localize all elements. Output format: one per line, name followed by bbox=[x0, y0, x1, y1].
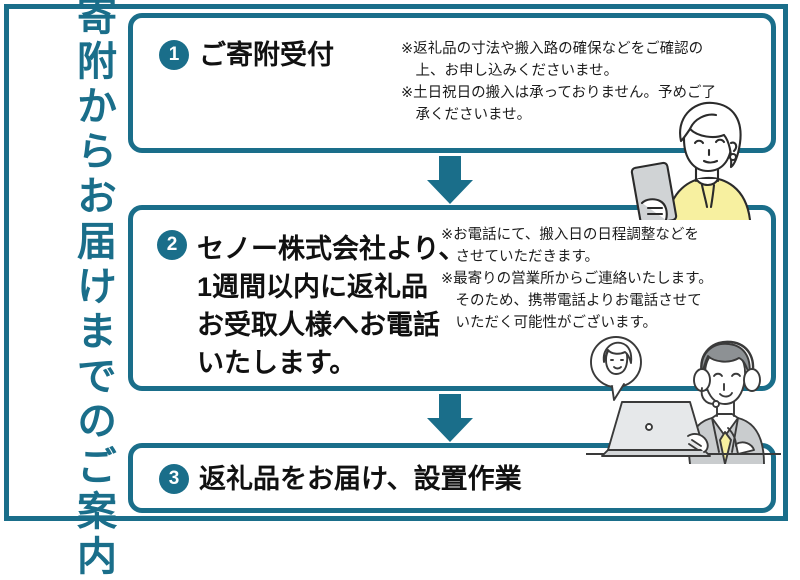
step-2-heading-group: 2 セノー株式会社より、 1週間以内に返礼品 お受取人様へお電話 いたします。 bbox=[157, 230, 465, 382]
vertical-title: ご寄附からお届けまでのご案内 bbox=[18, 12, 114, 512]
step-1-heading-group: 1 ご寄附受付 bbox=[159, 40, 334, 70]
arrow-tip bbox=[427, 180, 473, 204]
arrow-stem bbox=[439, 156, 461, 182]
arrow-tip bbox=[427, 418, 473, 442]
arrow-stem bbox=[439, 394, 461, 420]
infographic-root: ご寄附からお届けまでのご案内 1 ご寄附受付 ※返礼品の寸法や搬入路の確保などを… bbox=[0, 0, 800, 533]
step-3-heading: 返礼品をお届け、設置作業 bbox=[199, 464, 522, 494]
step-2-number-badge: 2 bbox=[157, 230, 187, 260]
step-2-notes: ※お電話にて、搬入日の日程調整などを させていただきます。 ※最寄りの営業所から… bbox=[441, 224, 776, 334]
step-1-heading: ご寄附受付 bbox=[199, 40, 334, 70]
step-2-heading: セノー株式会社より、 1週間以内に返礼品 お受取人様へお電話 いたします。 bbox=[197, 230, 465, 382]
step-3-number-badge: 3 bbox=[159, 464, 189, 494]
step-1-number-badge: 1 bbox=[159, 40, 189, 70]
step-3-heading-group: 3 返礼品をお届け、設置作業 bbox=[159, 464, 522, 494]
woman-with-smartphone-illustration bbox=[628, 95, 778, 220]
call-center-agent-illustration bbox=[586, 332, 781, 464]
